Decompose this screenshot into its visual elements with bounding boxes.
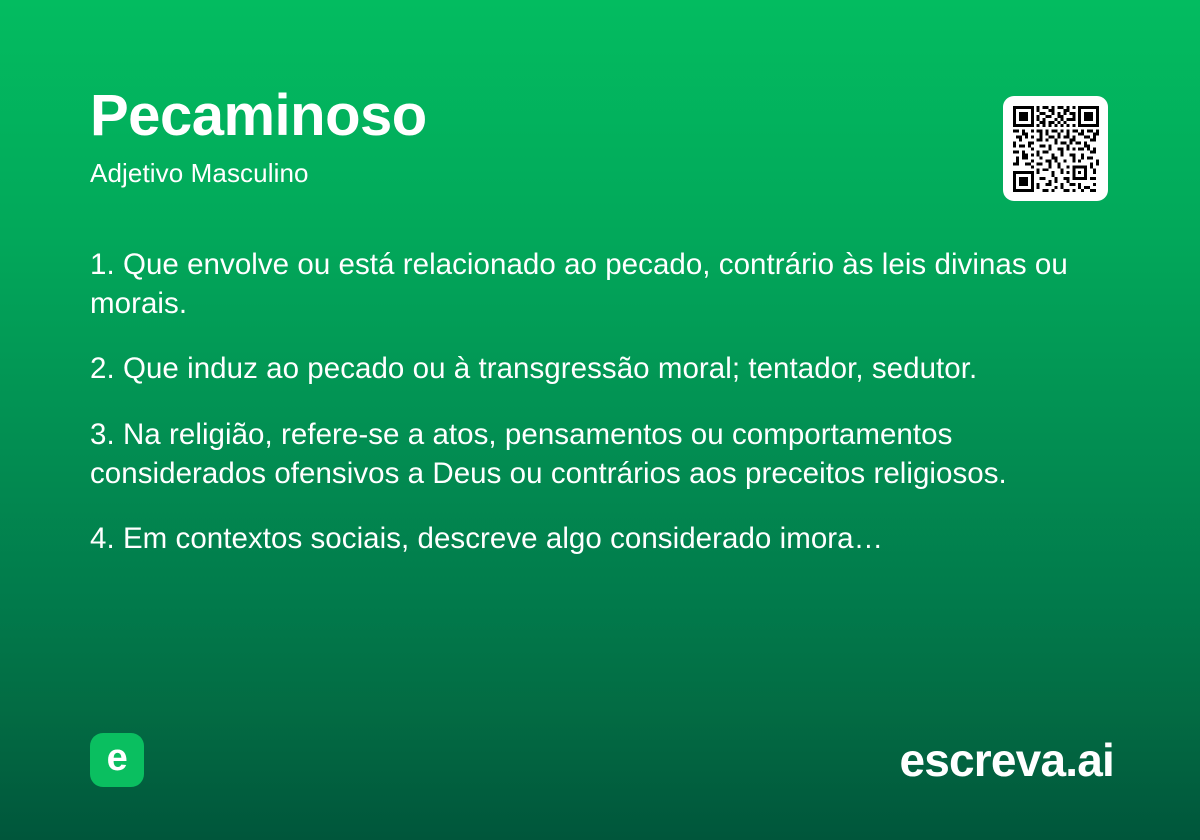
qr-code-icon [1013, 106, 1099, 192]
definitions-list: 1. Que envolve ou está relacionado ao pe… [90, 246, 1080, 559]
definition-item: 2. Que induz ao pecado ou à transgressão… [90, 350, 1080, 389]
brand-logo-letter: e [107, 739, 128, 777]
qr-code-container[interactable] [1003, 96, 1108, 201]
definition-item: 3. Na religião, refere-se a atos, pensam… [90, 416, 1080, 493]
brand-name: escreva.ai [899, 737, 1114, 783]
card-header: Pecaminoso Adjetivo Masculino [90, 86, 1110, 190]
definition-item: 1. Que envolve ou está relacionado ao pe… [90, 246, 1080, 323]
page-title: Pecaminoso [90, 86, 1110, 146]
dictionary-card: Pecaminoso Adjetivo Masculino [0, 0, 1200, 840]
brand-logo-icon: e [90, 733, 144, 787]
card-footer: e escreva.ai [90, 732, 1114, 788]
definition-item: 4. Em contextos sociais, descreve algo c… [90, 520, 1080, 559]
word-class-label: Adjetivo Masculino [90, 158, 1110, 189]
